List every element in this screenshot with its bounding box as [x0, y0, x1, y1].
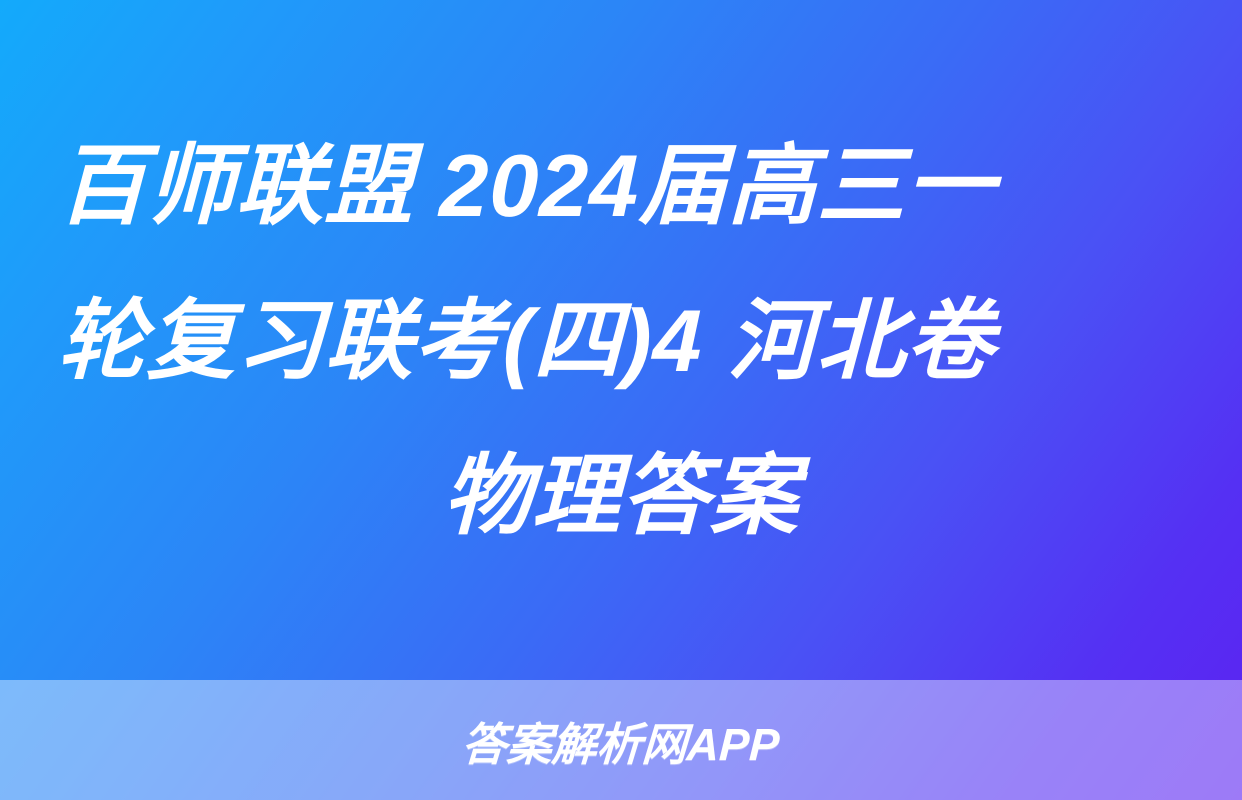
headline-line-3: 物理答案: [57, 418, 1186, 573]
headline-block: 百师联盟 2024届高三一 轮复习联考(四)4 河北卷 物理答案: [0, 0, 1242, 680]
app-watermark-label: 答案解析网APP: [461, 708, 782, 773]
headline-line-2: 轮复习联考(四)4 河北卷: [57, 263, 1186, 418]
footer-watermark-band: 答案解析网APP: [0, 680, 1242, 800]
poster-canvas: 百师联盟 2024届高三一 轮复习联考(四)4 河北卷 物理答案 答案解析网AP…: [0, 0, 1242, 800]
headline-line-1: 百师联盟 2024届高三一: [57, 108, 1186, 263]
